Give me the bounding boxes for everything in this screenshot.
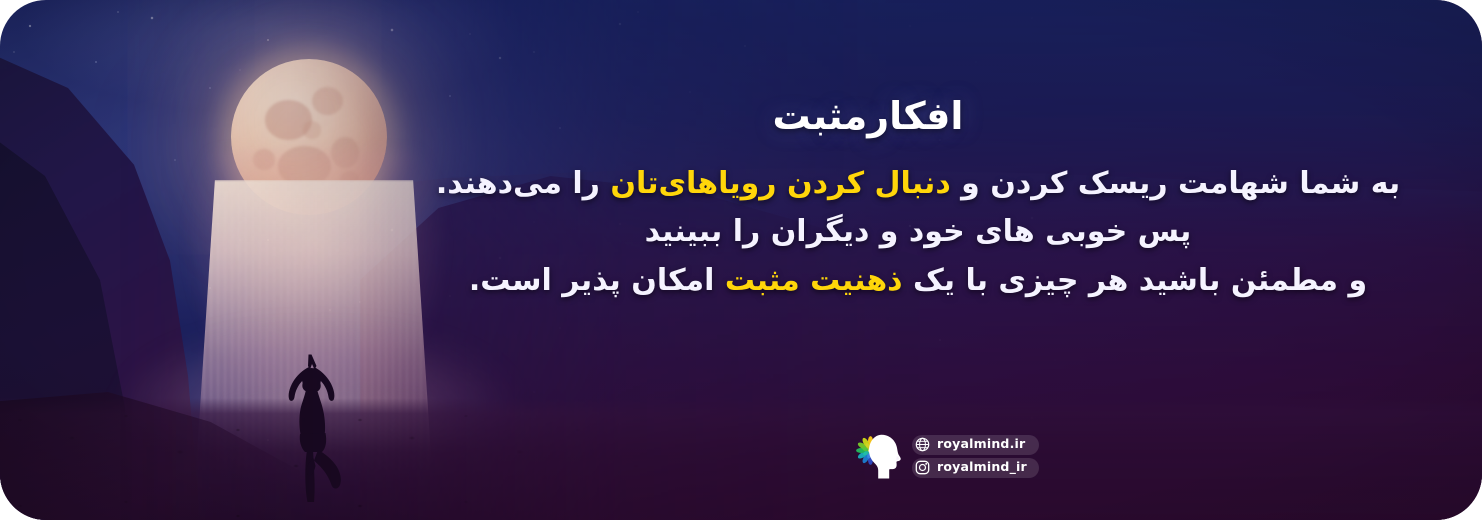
quote-line-1-part-b: را می‌دهند. [436, 166, 611, 201]
instagram-link[interactable]: royalmind_ir [912, 458, 1039, 478]
quote-line-2: پس خوبی های خود و دیگران را ببینید [388, 208, 1448, 257]
quote-line-3-highlight: ذهنیت مثبت [725, 263, 903, 298]
instagram-icon [915, 460, 930, 475]
quote-line-3-part-b: امکان پذیر است. [469, 263, 725, 298]
quote-line-3: و مطمئن باشید هر چیزی با یک ذهنیت مثبت ا… [388, 257, 1448, 306]
website-link[interactable]: royalmind.ir [912, 435, 1039, 455]
page-title: افکارمثبت [388, 96, 1448, 138]
quote-line-1-part-a: به شما شهامت ریسک کردن و [951, 166, 1400, 201]
social-links: royalmind.ir royalmind_ir [912, 435, 1039, 478]
inspirational-quote-banner: افکارمثبت به شما شهامت ریسک کردن و دنبال… [0, 0, 1482, 520]
brand-watermark: royalmind.ir royalmind_ir [856, 430, 1039, 482]
globe-icon [915, 437, 930, 452]
quote-line-1-highlight: دنبال کردن رویاهای‌تان [610, 166, 950, 201]
quote-line-1: به شما شهامت ریسک کردن و دنبال کردن رویا… [388, 160, 1448, 209]
quote-text-block: افکارمثبت به شما شهامت ریسک کردن و دنبال… [388, 96, 1448, 306]
instagram-label: royalmind_ir [937, 461, 1027, 474]
quote-line-3-part-a: و مطمئن باشید هر چیزی با یک [903, 263, 1368, 298]
head-brain-logo-icon [856, 430, 904, 482]
website-label: royalmind.ir [937, 438, 1025, 451]
